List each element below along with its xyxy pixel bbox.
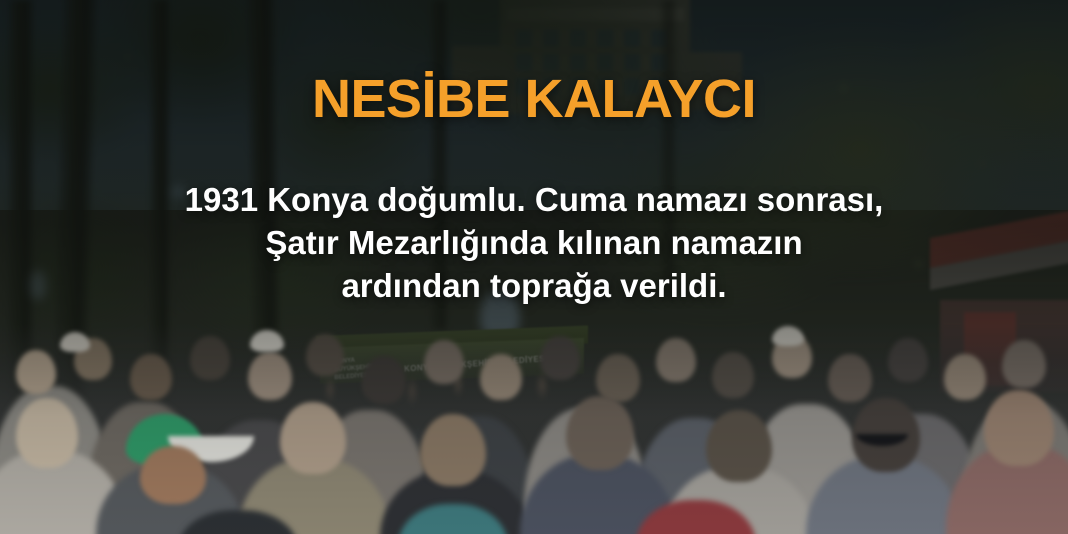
text-layer: NESİBE KALAYCI 1931 Konya doğumlu. Cuma … xyxy=(0,0,1068,534)
page-title: NESİBE KALAYCI xyxy=(312,72,756,126)
obituary-card: KONYA BÜYÜKŞEHİR BELEDİYESİ KONYA BÜYÜKŞ… xyxy=(0,0,1068,534)
body-text: 1931 Konya doğumlu. Cuma namazı sonrası,… xyxy=(185,178,884,307)
body-line-3: ardından toprağa verildi. xyxy=(185,264,884,307)
body-line-2: Şatır Mezarlığında kılınan namazın xyxy=(185,221,884,264)
body-line-1: 1931 Konya doğumlu. Cuma namazı sonrası, xyxy=(185,178,884,221)
